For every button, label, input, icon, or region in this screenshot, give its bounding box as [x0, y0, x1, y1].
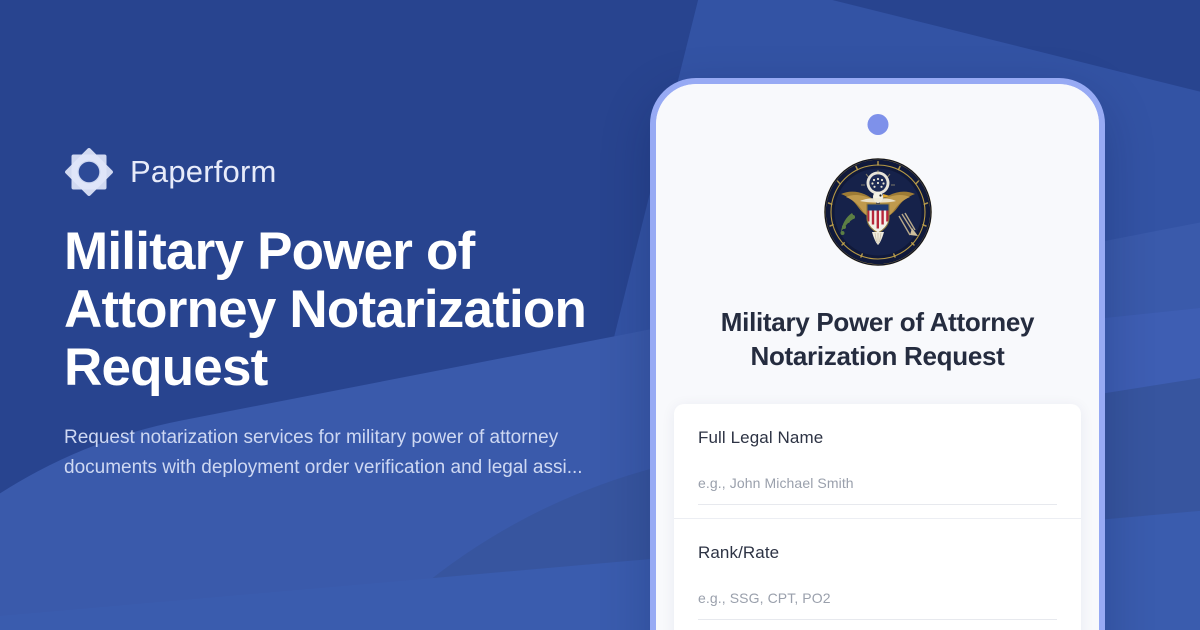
form-field-full-legal-name[interactable]: Full Legal Name e.g., John Michael Smith	[674, 404, 1081, 518]
field-label: Rank/Rate	[698, 543, 1057, 563]
paperform-logo-icon	[64, 147, 114, 197]
og-card: Paperform Military Power of Attorney Not…	[0, 0, 1200, 630]
field-label: Full Legal Name	[698, 428, 1057, 448]
brand-name: Paperform	[130, 154, 277, 190]
form-field-rank-rate[interactable]: Rank/Rate e.g., SSG, CPT, PO2	[674, 519, 1081, 630]
full-legal-name-input[interactable]: e.g., John Michael Smith	[698, 475, 1057, 505]
rank-rate-input[interactable]: e.g., SSG, CPT, PO2	[698, 590, 1057, 620]
hero-content: Paperform Military Power of Attorney Not…	[64, 0, 624, 630]
phone-screen: Military Power of Attorney Notarization …	[656, 84, 1099, 630]
camera-dot-icon	[867, 114, 888, 135]
page-title: Military Power of Attorney Notarization …	[64, 223, 604, 398]
form-card: Full Legal Name e.g., John Michael Smith…	[674, 404, 1081, 630]
form-title: Military Power of Attorney Notarization …	[680, 306, 1075, 374]
great-seal-of-the-united-states-icon	[822, 156, 934, 268]
page-description: Request notarization services for milita…	[64, 423, 584, 483]
phone-mockup: Military Power of Attorney Notarization …	[650, 78, 1105, 630]
brand-lockup: Paperform	[64, 147, 624, 197]
